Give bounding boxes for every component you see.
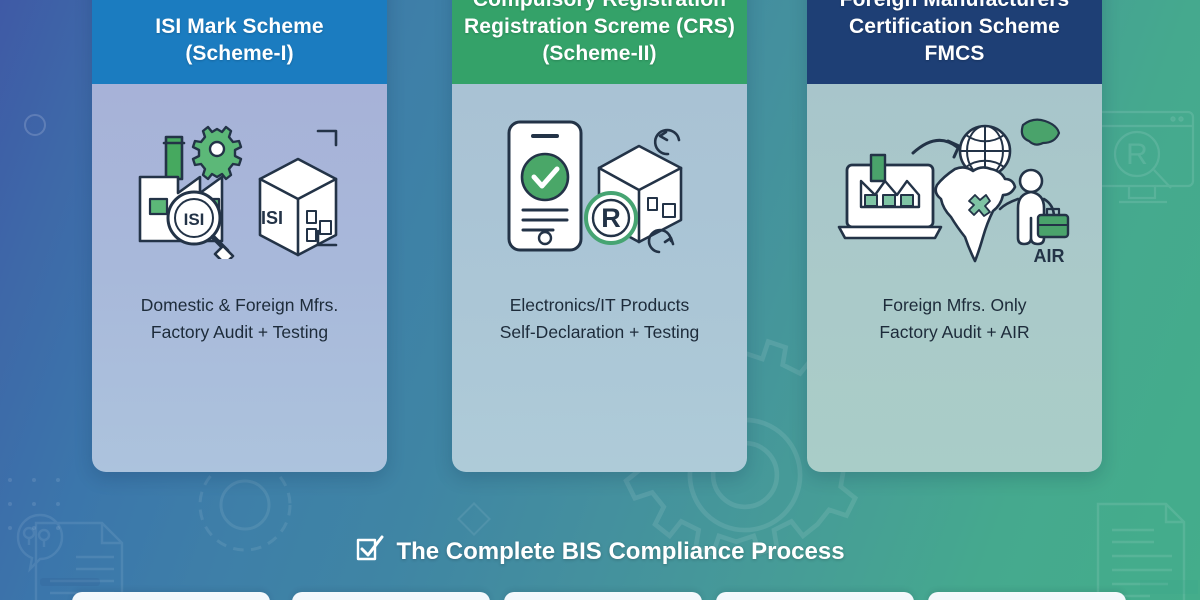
circle-outline-watermark — [22, 112, 48, 138]
scheme-card-crs-title-line3: (Scheme-II) — [464, 41, 735, 68]
scheme-card-crs[interactable]: Compulsory Registration Registration Scr… — [452, 0, 747, 472]
scheme-card-isi-caption-line1: Domestic & Foreign Mfrs. — [141, 292, 338, 319]
scheme-card-fmcs[interactable]: Foreign Manufacturers Certification Sche… — [807, 0, 1102, 472]
laptop-globe-india-air-illustration: AIR — [835, 104, 1075, 274]
process-step-card-2[interactable] — [292, 592, 490, 600]
process-step-card-4[interactable] — [716, 592, 914, 600]
svg-text:R: R — [1126, 138, 1148, 171]
compliance-process-section-title: The Complete BIS Compliance Process — [0, 533, 1200, 570]
scheme-card-isi-title-line2: (Scheme-I) — [104, 41, 375, 68]
scheme-card-isi-body: ISI ISI Domestic & Foreign Mfrs. Factory… — [92, 84, 387, 472]
process-step-card-3[interactable] — [504, 592, 702, 600]
scheme-card-crs-caption: Electronics/IT Products Self-Declaration… — [500, 292, 700, 345]
isi-box-label: ISI — [261, 208, 283, 228]
dot-grid-watermark — [0, 470, 120, 590]
scheme-card-isi[interactable]: ISI Mark Scheme (Scheme-I) — [92, 0, 387, 472]
smartphone-check-r-box-illustration: R — [487, 104, 712, 274]
scheme-card-fmcs-caption: Foreign Mfrs. Only Factory Audit + AIR — [879, 292, 1029, 345]
process-step-cards-row — [0, 592, 1200, 600]
accent-bar-left — [40, 578, 100, 586]
scheme-card-crs-caption-line1: Electronics/IT Products — [500, 292, 700, 319]
scheme-card-fmcs-header: Foreign Manufacturers Certification Sche… — [807, 0, 1102, 84]
crs-registration-label: R — [601, 203, 621, 233]
process-step-card-5[interactable] — [928, 592, 1126, 600]
scheme-card-isi-title-line1: ISI Mark Scheme — [104, 14, 375, 41]
scheme-card-crs-body: R Electronics/IT Products Self-Declarati… — [452, 84, 747, 472]
isi-magnifier-label: ISI — [184, 210, 205, 229]
scheme-card-isi-caption: Domestic & Foreign Mfrs. Factory Audit +… — [141, 292, 338, 345]
scheme-card-isi-caption-line2: Factory Audit + Testing — [141, 319, 338, 346]
compliance-process-title-text: The Complete BIS Compliance Process — [396, 538, 844, 566]
monitor-trademark-watermark: R — [1085, 108, 1200, 213]
scheme-card-isi-header: ISI Mark Scheme (Scheme-I) — [92, 0, 387, 84]
scheme-card-crs-caption-line2: Self-Declaration + Testing — [500, 319, 700, 346]
factory-magnifier-isi-box-illustration: ISI ISI — [122, 104, 357, 274]
scheme-card-fmcs-caption-line2: Factory Audit + AIR — [879, 319, 1029, 346]
scheme-card-fmcs-title-line3: FMCS — [819, 41, 1090, 68]
scheme-card-fmcs-title-line1: Foreign Manufacturers — [819, 0, 1090, 14]
process-step-card-1[interactable] — [72, 592, 270, 600]
scheme-card-fmcs-body: AIR Foreign Mfrs. Only Factory Audit + A… — [807, 84, 1102, 472]
checked-checkbox-icon — [355, 533, 385, 570]
scheme-card-crs-title-line1: Compulsory Registration — [464, 0, 735, 14]
air-label: AIR — [1033, 246, 1064, 266]
scheme-card-fmcs-title-line2: Certification Scheme — [819, 14, 1090, 41]
scheme-card-crs-title-line2: Registration Screme (CRS) — [464, 14, 735, 41]
scheme-card-crs-header: Compulsory Registration Registration Scr… — [452, 0, 747, 84]
scheme-card-fmcs-caption-line1: Foreign Mfrs. Only — [879, 292, 1029, 319]
